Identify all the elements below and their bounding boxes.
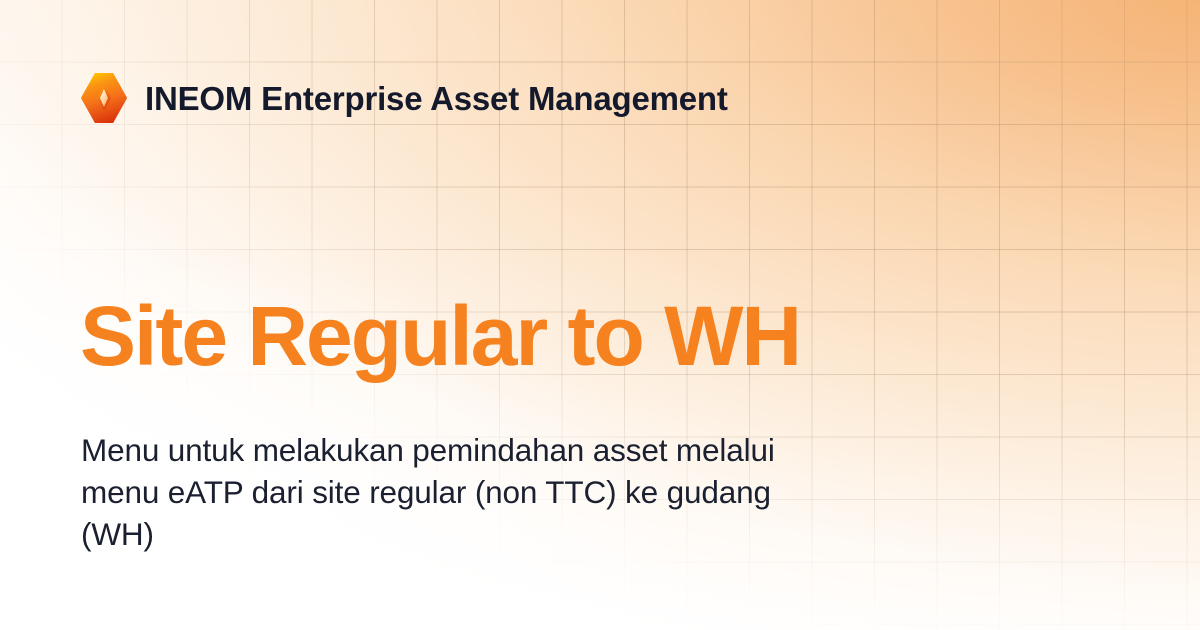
ineom-hexagon-logo-icon	[80, 72, 128, 124]
cover-card: INEOM Enterprise Asset Management Site R…	[0, 0, 1200, 630]
cover-content: INEOM Enterprise Asset Management Site R…	[0, 0, 1200, 630]
brand-name: INEOM Enterprise Asset Management	[145, 82, 728, 115]
brand-lockup: INEOM Enterprise Asset Management	[80, 72, 728, 124]
page-description: Menu untuk melakukan pemindahan asset me…	[81, 429, 841, 555]
page-title: Site Regular to WH	[80, 294, 800, 380]
